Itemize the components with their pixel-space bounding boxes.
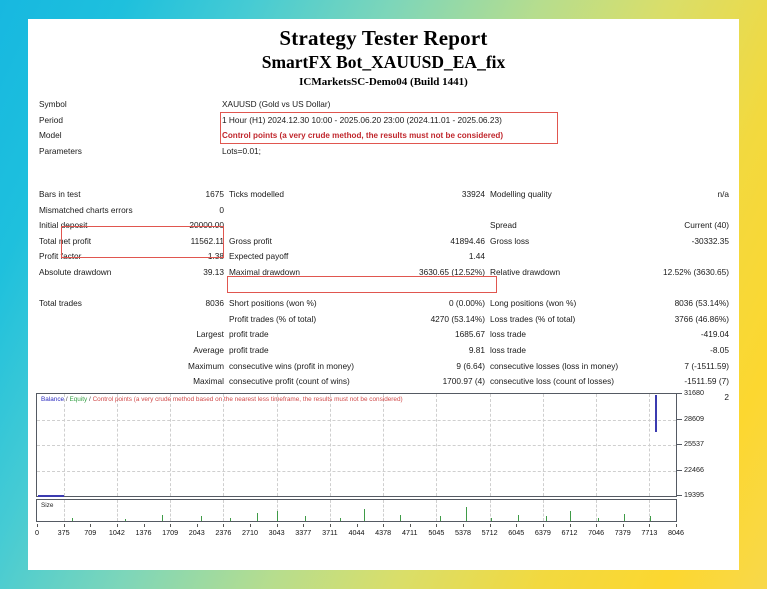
legend-separator-2: /: [89, 396, 91, 403]
x-axis-tick: [250, 524, 251, 527]
stat-value-3: 12.52% (3630.65): [599, 265, 729, 281]
stat-label-1: Initial deposit: [39, 218, 87, 234]
x-axis-label: 5378: [455, 528, 471, 537]
report-subtitle: SmartFX Bot_XAUUSD_EA_fix: [28, 52, 739, 73]
x-axis-label: 0: [35, 528, 39, 537]
info-row: Period1 Hour (H1) 2024.12.30 10:00 - 202…: [39, 113, 729, 129]
chart-gridline-h: [37, 445, 676, 446]
stat-label-3: Loss trades (% of total): [490, 312, 575, 328]
size-bar: [570, 511, 571, 522]
chart-gridline-v: [117, 500, 118, 521]
x-axis-tick: [623, 524, 624, 527]
y-axis-tick: [677, 444, 682, 445]
size-bar: [650, 516, 651, 521]
stat-label-2: profit trade: [229, 343, 269, 359]
x-axis-label: 6712: [562, 528, 578, 537]
size-bar: [125, 519, 126, 521]
stat-label-1: Total trades: [39, 296, 82, 312]
x-axis-label: 3043: [269, 528, 285, 537]
size-bar: [598, 518, 599, 522]
stat-value-3: 7 (-1511.59): [599, 359, 729, 375]
report-statistics-table: Bars in test1675Ticks modelled33924Model…: [39, 187, 729, 405]
stat-value-1: 8036: [139, 296, 224, 312]
x-axis-tick: [649, 524, 650, 527]
x-axis-tick: [277, 524, 278, 527]
y-axis-label: 19395: [684, 490, 704, 499]
stat-label-3: Relative drawdown: [490, 265, 560, 281]
x-axis-label: 4711: [402, 528, 417, 537]
size-plot: Size: [36, 499, 677, 522]
chart-gridline-v: [223, 500, 224, 521]
info-label: Model: [39, 128, 62, 144]
size-bar: [277, 511, 278, 522]
chart-gridline-v: [436, 500, 437, 521]
stats-row: Averageprofit trade9.81loss trade-8.05: [39, 343, 729, 359]
x-axis-tick: [197, 524, 198, 527]
x-axis-label: 2043: [189, 528, 205, 537]
size-bar: [624, 514, 625, 521]
x-axis-label: 5045: [428, 528, 444, 537]
stat-label-2: consecutive profit (count of wins): [229, 374, 350, 390]
stats-row: Largestprofit trade1685.67loss trade-419…: [39, 327, 729, 343]
balance-equity-plot: Balance / Equity / Control points (a ver…: [36, 393, 677, 497]
y-axis-label: 31680: [684, 388, 704, 397]
x-axis-tick: [490, 524, 491, 527]
stat-value-1: 39.13: [139, 265, 224, 281]
stat-value-2: 9.81: [369, 343, 485, 359]
x-axis-tick: [543, 524, 544, 527]
x-axis-label: 4044: [349, 528, 365, 537]
size-bar: [440, 516, 441, 521]
legend-balance: Balance: [41, 396, 64, 403]
stat-value-3: n/a: [599, 187, 729, 203]
info-row: SymbolXAUUSD (Gold vs US Dollar): [39, 97, 729, 113]
x-axis-tick: [223, 524, 224, 527]
x-axis-label: 375: [58, 528, 70, 537]
stat-value-3: 8036 (53.14%): [599, 296, 729, 312]
x-axis-tick: [330, 524, 331, 527]
y-axis-label: 22466: [684, 465, 704, 474]
stat-value-1: 20000.00: [139, 218, 224, 234]
stat-value-1: 11562.11: [139, 234, 224, 250]
size-bar: [162, 515, 163, 521]
x-axis-tick: [37, 524, 38, 527]
stat-label-3: consecutive loss (count of losses): [490, 374, 614, 390]
stat-label-2: Short positions (won %): [229, 296, 317, 312]
info-label: Parameters: [39, 144, 82, 160]
chart-gridline-v: [170, 500, 171, 521]
size-bar: [546, 516, 547, 521]
stat-label-2: profit trade: [229, 327, 269, 343]
stat-label-1: Mismatched charts errors: [39, 203, 133, 219]
stat-value-2: 33924: [369, 187, 485, 203]
chart-gridline-v: [64, 500, 65, 521]
stats-row: Profit trades (% of total)4270 (53.14%)L…: [39, 312, 729, 328]
stat-value-3: -8.05: [599, 343, 729, 359]
y-axis-tick: [677, 419, 682, 420]
stat-value-2: 1.44: [369, 249, 485, 265]
stat-value-1: Maximum: [139, 359, 224, 375]
stat-label-2: Profit trades (% of total): [229, 312, 316, 328]
chart-x-axis: 0375709104213761709204323762710304333773…: [36, 524, 731, 546]
x-axis-tick: [463, 524, 464, 527]
info-label: Symbol: [39, 97, 67, 113]
chart-gridline-v: [543, 500, 544, 521]
stat-label-2: Maximal drawdown: [229, 265, 300, 281]
y-axis-tick: [677, 393, 682, 394]
stat-value-2: 4270 (53.14%): [369, 312, 485, 328]
equity-chart: Balance / Equity / Control points (a ver…: [36, 393, 731, 553]
stat-label-2: Gross profit: [229, 234, 272, 250]
stat-value-3: -419.04: [599, 327, 729, 343]
stat-value-2: 41894.46: [369, 234, 485, 250]
x-axis-tick: [90, 524, 91, 527]
stat-value-1: 1675: [139, 187, 224, 203]
size-bar: [491, 518, 492, 522]
x-axis-tick: [117, 524, 118, 527]
balance-spike-segment: [655, 395, 657, 432]
x-axis-label: 8046: [668, 528, 684, 537]
stats-row: Mismatched charts errors0: [39, 203, 729, 219]
x-axis-label: 7713: [641, 528, 657, 537]
size-bar: [72, 518, 73, 522]
balance-flat-segment: [38, 495, 64, 497]
x-axis-tick: [410, 524, 411, 527]
info-value: Lots=0.01;: [222, 144, 261, 160]
report-server: ICMarketsSC-Demo04 (Build 1441): [28, 76, 739, 89]
stat-label-2: Expected payoff: [229, 249, 288, 265]
size-bar: [340, 518, 341, 522]
stat-value-3: -1511.59 (7): [599, 374, 729, 390]
stat-label-3: Spread: [490, 218, 517, 234]
size-bar: [230, 518, 231, 522]
info-value: XAUUSD (Gold vs US Dollar): [222, 97, 330, 113]
stat-label-3: Modelling quality: [490, 187, 552, 203]
x-axis-label: 6379: [535, 528, 551, 537]
page-title: Strategy Tester Report: [28, 27, 739, 51]
x-axis-tick: [676, 524, 677, 527]
stat-label-3: loss trade: [490, 327, 526, 343]
x-axis-label: 2710: [242, 528, 258, 537]
stats-row: Maximalconsecutive profit (count of wins…: [39, 374, 729, 390]
stat-label-2: Ticks modelled: [229, 187, 284, 203]
x-axis-label: 7046: [588, 528, 604, 537]
stat-label-1: Bars in test: [39, 187, 81, 203]
stat-value-2: 1700.97 (4): [369, 374, 485, 390]
size-bar: [201, 516, 202, 521]
info-row: ParametersLots=0.01;: [39, 144, 729, 160]
x-axis-tick: [357, 524, 358, 527]
legend-control-points-note: Control points (a very crude method base…: [93, 396, 403, 403]
stat-value-1: 1.38: [139, 249, 224, 265]
chart-gridline-v: [383, 500, 384, 521]
x-axis-tick: [436, 524, 437, 527]
x-axis-label: 5712: [482, 528, 498, 537]
stat-label-2: consecutive wins (profit in money): [229, 359, 354, 375]
stat-value-1: Largest: [139, 327, 224, 343]
y-axis-label: 28609: [684, 414, 704, 423]
x-axis-label: 1709: [162, 528, 178, 537]
x-axis-label: 2376: [215, 528, 231, 537]
size-bar: [257, 513, 258, 521]
stat-label-3: Long positions (won %): [490, 296, 576, 312]
stat-value-2: 9 (6.64): [369, 359, 485, 375]
x-axis-tick: [516, 524, 517, 527]
stats-row: Bars in test1675Ticks modelled33924Model…: [39, 187, 729, 203]
y-axis-tick: [677, 495, 682, 496]
x-axis-label: 6045: [508, 528, 524, 537]
x-axis-label: 3711: [322, 528, 337, 537]
legend-separator-1: /: [66, 396, 68, 403]
x-axis-label: 3377: [295, 528, 311, 537]
stats-row: [39, 281, 729, 297]
stat-value-2: 1685.67: [369, 327, 485, 343]
stat-value-3: -30332.35: [599, 234, 729, 250]
stats-row: Absolute drawdown39.13Maximal drawdown36…: [39, 265, 729, 281]
x-axis-tick: [383, 524, 384, 527]
x-axis-label: 4378: [375, 528, 391, 537]
stat-label-1: Profit factor: [39, 249, 81, 265]
chart-gridline-v: [330, 500, 331, 521]
stat-value-2: 0 (0.00%): [369, 296, 485, 312]
x-axis-tick: [570, 524, 571, 527]
info-value: 1 Hour (H1) 2024.12.30 10:00 - 2025.06.2…: [222, 113, 502, 129]
x-axis-label: 709: [84, 528, 96, 537]
stat-label-3: Gross loss: [490, 234, 529, 250]
size-panel-label: Size: [41, 502, 53, 509]
stats-row: Profit factor1.38Expected payoff1.44: [39, 249, 729, 265]
x-axis-tick: [596, 524, 597, 527]
stat-value-2: 3630.65 (12.52%): [369, 265, 485, 281]
chart-gridline-h: [37, 471, 676, 472]
stat-value-3: Current (40): [599, 218, 729, 234]
info-value: Control points (a very crude method, the…: [222, 128, 503, 144]
stat-value-1: Maximal: [139, 374, 224, 390]
size-bar: [518, 515, 519, 521]
stat-value-3: 3766 (46.86%): [599, 312, 729, 328]
size-bar: [305, 516, 306, 521]
stat-label-3: loss trade: [490, 343, 526, 359]
stat-value-1: 0: [139, 203, 224, 219]
size-bar: [364, 509, 365, 521]
x-axis-tick: [144, 524, 145, 527]
stats-row: Initial deposit20000.00SpreadCurrent (40…: [39, 218, 729, 234]
y-axis-tick: [677, 470, 682, 471]
x-axis-tick: [303, 524, 304, 527]
info-label: Period: [39, 113, 63, 129]
chart-legend: Balance / Equity / Control points (a ver…: [41, 396, 403, 403]
size-bar: [466, 507, 467, 521]
x-axis-label: 1376: [136, 528, 152, 537]
x-axis-label: 1042: [109, 528, 125, 537]
stats-row: Maximumconsecutive wins (profit in money…: [39, 359, 729, 375]
size-bar: [400, 515, 401, 521]
report-header: Strategy Tester Report SmartFX Bot_XAUUS…: [28, 27, 739, 89]
x-axis-label: 7379: [615, 528, 631, 537]
report-info-table: SymbolXAUUSD (Gold vs US Dollar)Period1 …: [39, 97, 729, 159]
stat-label-1: Absolute drawdown: [39, 265, 111, 281]
x-axis-tick: [64, 524, 65, 527]
x-axis-tick: [170, 524, 171, 527]
report-sheet: Strategy Tester Report SmartFX Bot_XAUUS…: [28, 19, 739, 570]
stat-value-1: Average: [139, 343, 224, 359]
legend-equity: Equity: [69, 396, 87, 403]
stats-row: Total net profit11562.11Gross profit4189…: [39, 234, 729, 250]
info-row: ModelControl points (a very crude method…: [39, 128, 729, 144]
stats-row: Total trades8036Short positions (won %)0…: [39, 296, 729, 312]
y-axis-label: 25537: [684, 439, 704, 448]
stat-label-1: Total net profit: [39, 234, 91, 250]
chart-gridline-h: [37, 420, 676, 421]
